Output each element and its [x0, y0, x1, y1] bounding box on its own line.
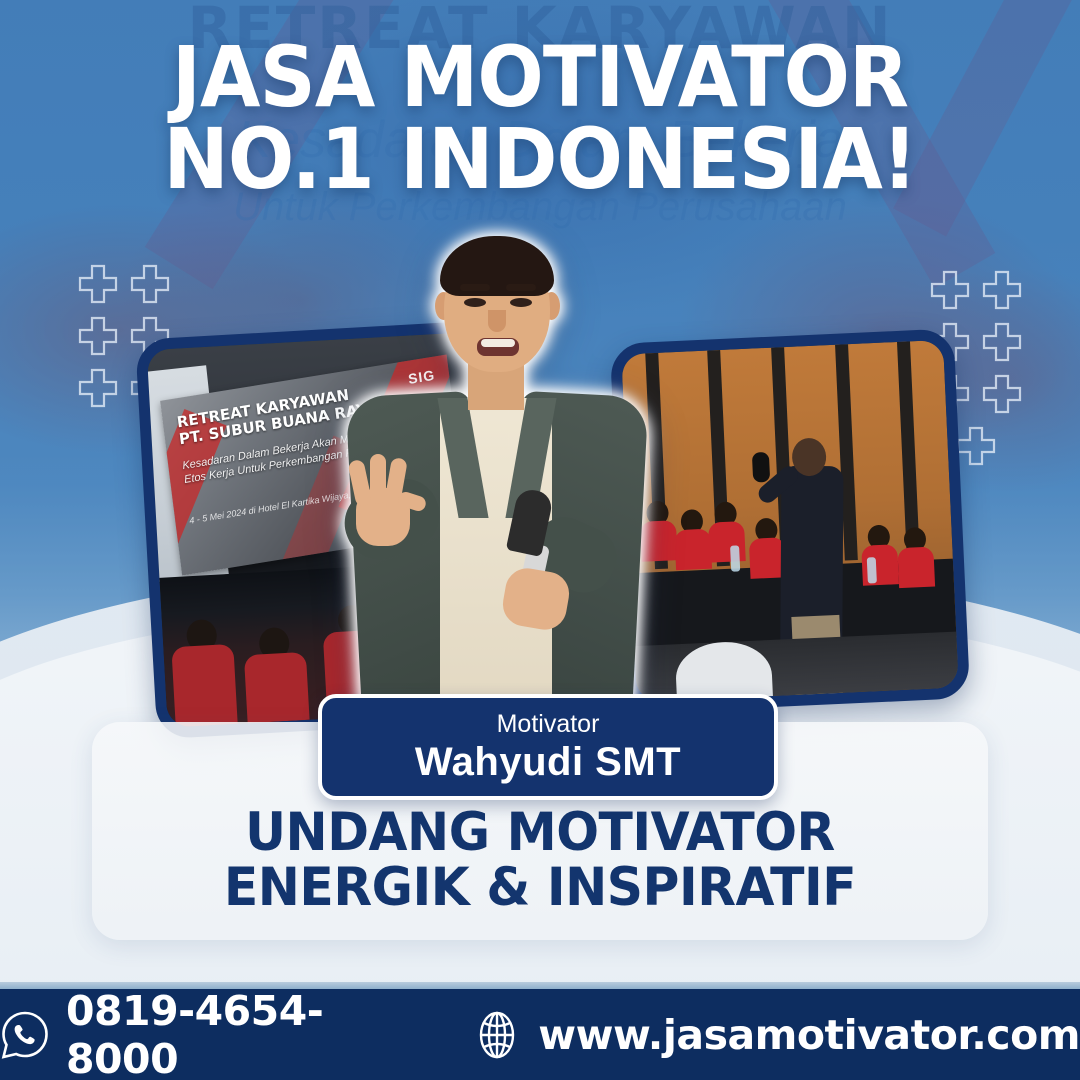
- photo-right-content: [621, 340, 958, 702]
- photo-card-right: [610, 328, 970, 713]
- whatsapp-phone-icon: [0, 1010, 50, 1060]
- badge-role-label: Motivator: [497, 712, 600, 737]
- poster-canvas: RETREAT KARYAWAN Kesadaran Dalam Bekerja…: [0, 0, 1080, 1080]
- phone-number: 0819-4654-8000: [66, 987, 430, 1080]
- motivator-name-badge: Motivator Wahyudi SMT: [318, 694, 778, 800]
- tagline-line-1: UNDANG MOTIVATOR: [114, 805, 965, 860]
- badge-name-label: Wahyudi SMT: [415, 741, 681, 783]
- website-contact[interactable]: www.jasamotivator.com: [472, 1010, 1080, 1060]
- motivator-left-hand: [342, 454, 418, 550]
- globe-icon: [472, 1010, 522, 1060]
- motivator-cutout-photo: [336, 222, 658, 722]
- page-title: JASA MOTIVATOR NO.1 INDONESIA!: [38, 36, 1042, 201]
- phone-contact[interactable]: 0819-4654-8000: [0, 987, 430, 1080]
- headline-line-2: NO.1 INDONESIA!: [38, 118, 1042, 200]
- contact-footer: 0819-4654-8000 www.jasamotivator.com: [0, 989, 1080, 1080]
- website-url: www.jasamotivator.com: [538, 1011, 1080, 1059]
- tagline: UNDANG MOTIVATOR ENERGIK & INSPIRATIF: [114, 805, 965, 915]
- tagline-line-2: ENERGIK & INSPIRATIF: [114, 860, 965, 915]
